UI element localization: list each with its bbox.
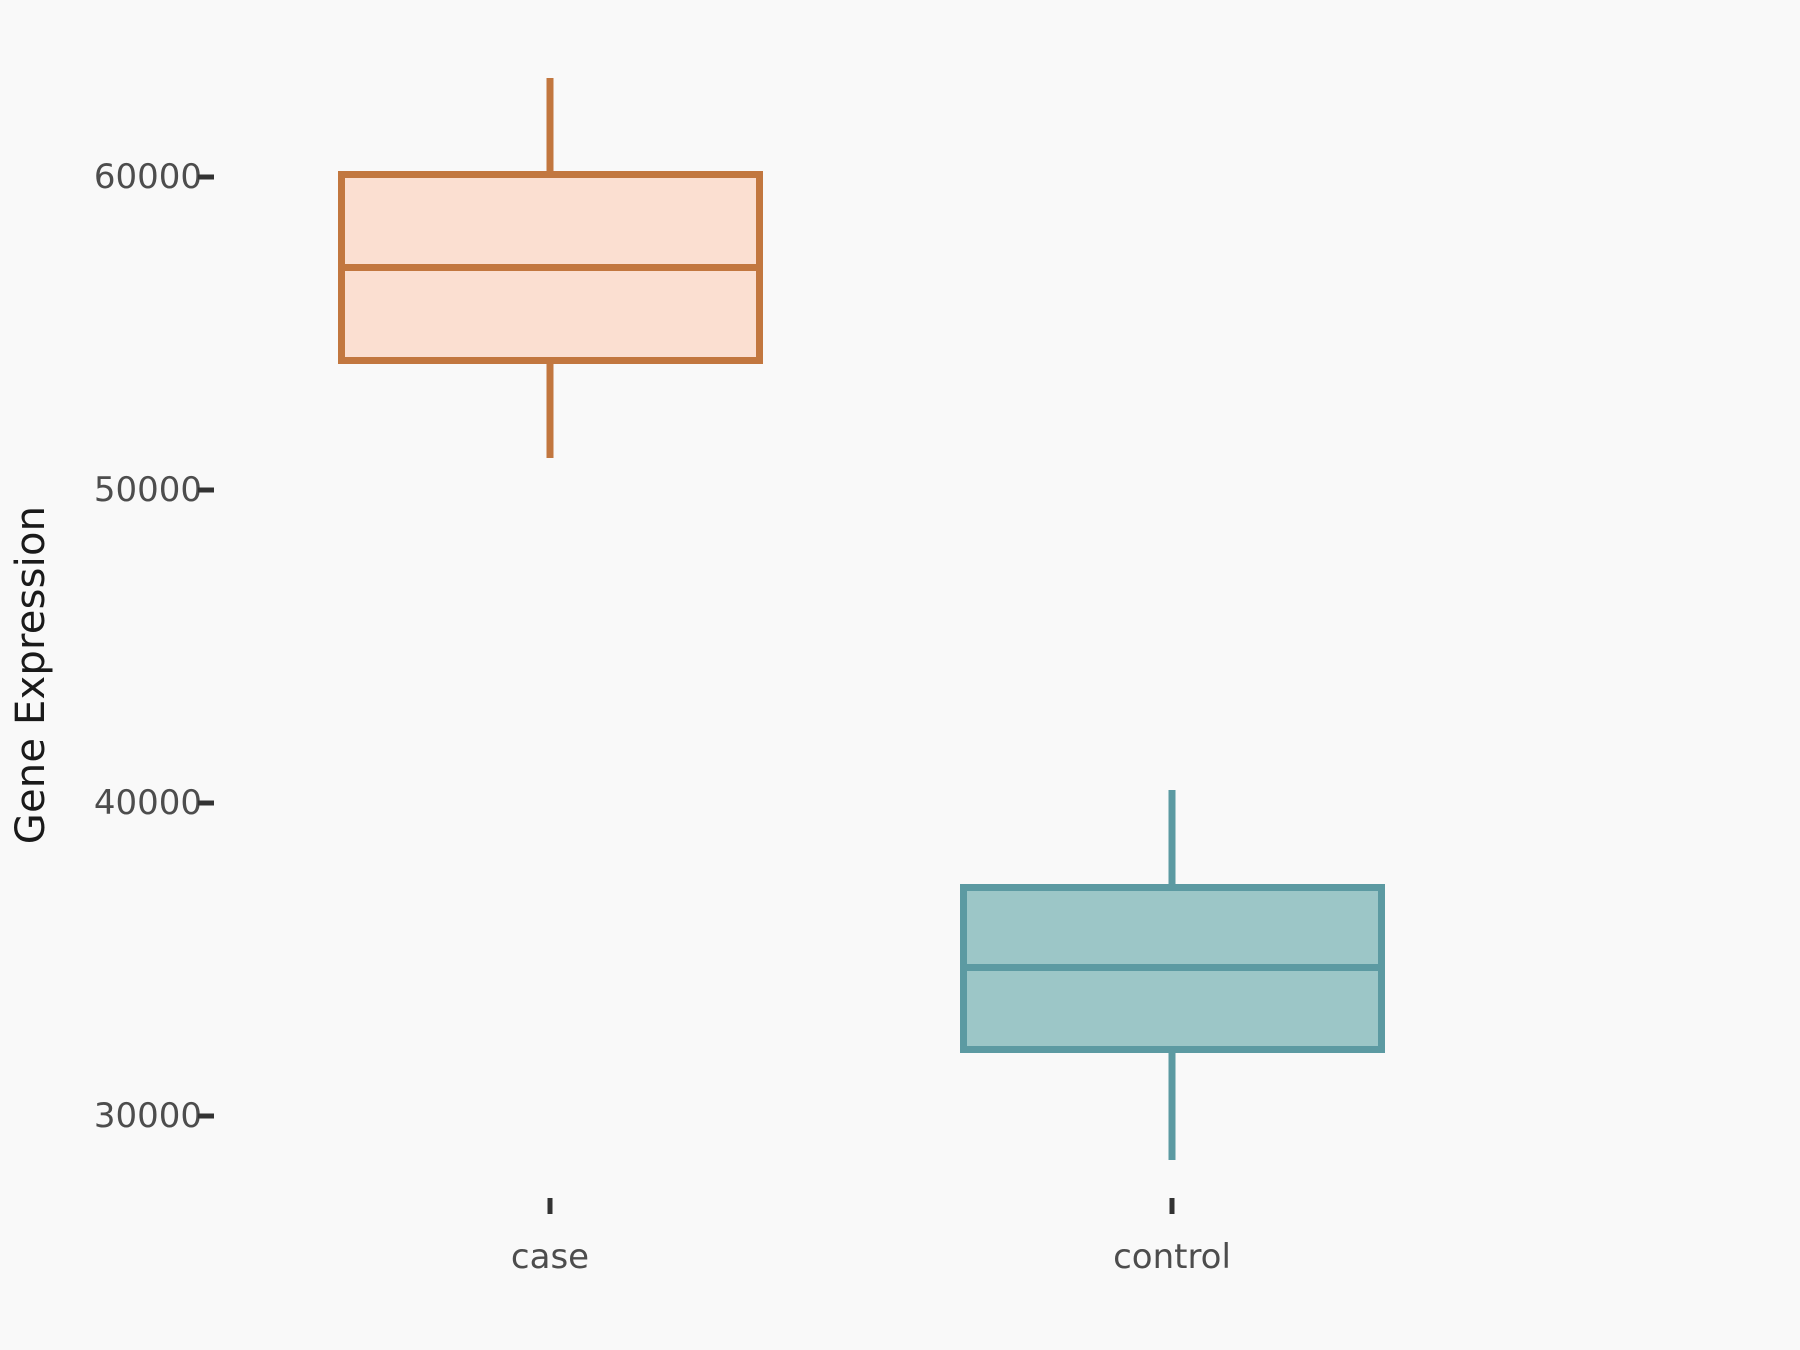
whisker-upper-control [1169, 790, 1176, 884]
box-plot-series [0, 0, 1800, 1350]
whisker-lower-control [1169, 1053, 1176, 1160]
median-line-control [960, 964, 1385, 971]
boxplot-figure: Gene Expression 60000500004000030000 cas… [0, 0, 1800, 1350]
box-plot-control [0, 0, 1800, 1350]
